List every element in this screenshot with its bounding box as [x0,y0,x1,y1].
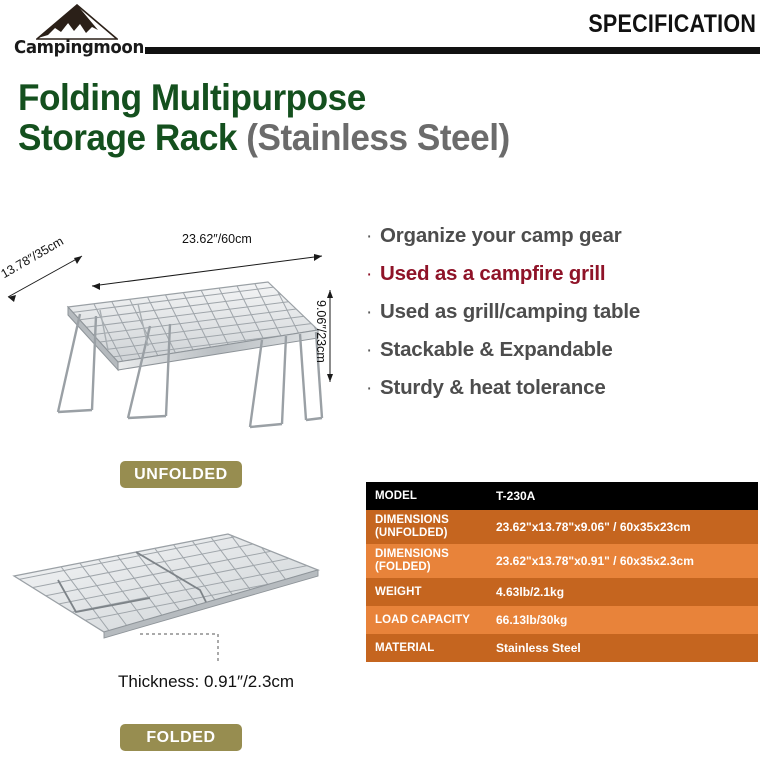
table-row: MATERIAL Stainless Steel [366,634,758,662]
page-title: Folding Multipurpose Storage Rack (Stain… [18,78,702,158]
table-row: WEIGHT 4.63lb/2.1kg [366,578,758,606]
table-cell-key-line1: DIMENSIONS [375,548,487,561]
page-header: Campingmoon SPECIFICATION [0,0,768,72]
bullet-dot-icon: · [366,265,380,284]
table-cell-key: MODEL [366,482,487,510]
feature-label: Used as a campfire grill [380,262,605,286]
feature-list: · Organize your camp gear · Used as a ca… [366,224,762,414]
table-cell-key: WEIGHT [366,578,487,606]
table-cell-key-line2: (FOLDED) [375,561,487,574]
specification-heading: SPECIFICATION [588,10,756,39]
specification-table: MODEL T-230A DIMENSIONS (UNFOLDED) 23.62… [366,482,758,662]
mountain-logo-icon [36,4,118,40]
table-row: MODEL T-230A [366,482,758,510]
table-row: DIMENSIONS (UNFOLDED) 23.62"x13.78"x9.06… [366,510,758,544]
header-divider [145,47,760,54]
feature-item: · Sturdy & heat tolerance [366,376,762,414]
feature-item: · Stackable & Expandable [366,338,762,376]
product-image-folded [0,528,355,668]
table-cell-key-line2: (UNFOLDED) [375,527,487,540]
thickness-label: Thickness: 0.91″/2.3cm [118,672,294,692]
table-cell-key: LOAD CAPACITY [366,606,487,634]
table-cell-value: 23.62"x13.78"x9.06" / 60x35x23cm [487,510,758,544]
badge-unfolded: UNFOLDED [120,461,242,488]
brand-wordmark: Campingmoon [14,38,132,58]
table-cell-value: T-230A [487,482,758,510]
table-cell-value: 66.13lb/30kg [487,606,758,634]
page-title-line2-green: Storage Rack [18,117,246,158]
dimension-label-width: 23.62″/60cm [182,232,252,246]
feature-label: Used as grill/camping table [380,300,640,324]
badge-folded: FOLDED [120,724,242,751]
feature-label: Stackable & Expandable [380,338,613,362]
feature-item: · Used as grill/camping table [366,300,762,338]
table-cell-key: MATERIAL [366,634,487,662]
table-cell-key: DIMENSIONS (FOLDED) [366,544,487,578]
bullet-dot-icon: · [366,227,380,246]
product-image-unfolded [0,222,355,437]
feature-item: · Used as a campfire grill [366,262,762,300]
bullet-dot-icon: · [366,303,380,322]
table-cell-value: Stainless Steel [487,634,758,662]
table-row: LOAD CAPACITY 66.13lb/30kg [366,606,758,634]
table-cell-key-line1: DIMENSIONS [375,514,487,527]
table-cell-value: 4.63lb/2.1kg [487,578,758,606]
brand-logo: Campingmoon [14,4,138,62]
bullet-dot-icon: · [366,341,380,360]
feature-label: Organize your camp gear [380,224,621,248]
bullet-dot-icon: · [366,379,380,398]
table-row: DIMENSIONS (FOLDED) 23.62"x13.78"x0.91" … [366,544,758,578]
page-title-line2-gray: (Stainless Steel) [246,117,509,158]
table-cell-value: 23.62"x13.78"x0.91" / 60x35x2.3cm [487,544,758,578]
page-title-line1: Folding Multipurpose [18,78,702,118]
feature-label: Sturdy & heat tolerance [380,376,606,400]
table-cell-key: DIMENSIONS (UNFOLDED) [366,510,487,544]
dimension-label-height: 9.06″/23cm [314,300,328,363]
feature-item: · Organize your camp gear [366,224,762,262]
